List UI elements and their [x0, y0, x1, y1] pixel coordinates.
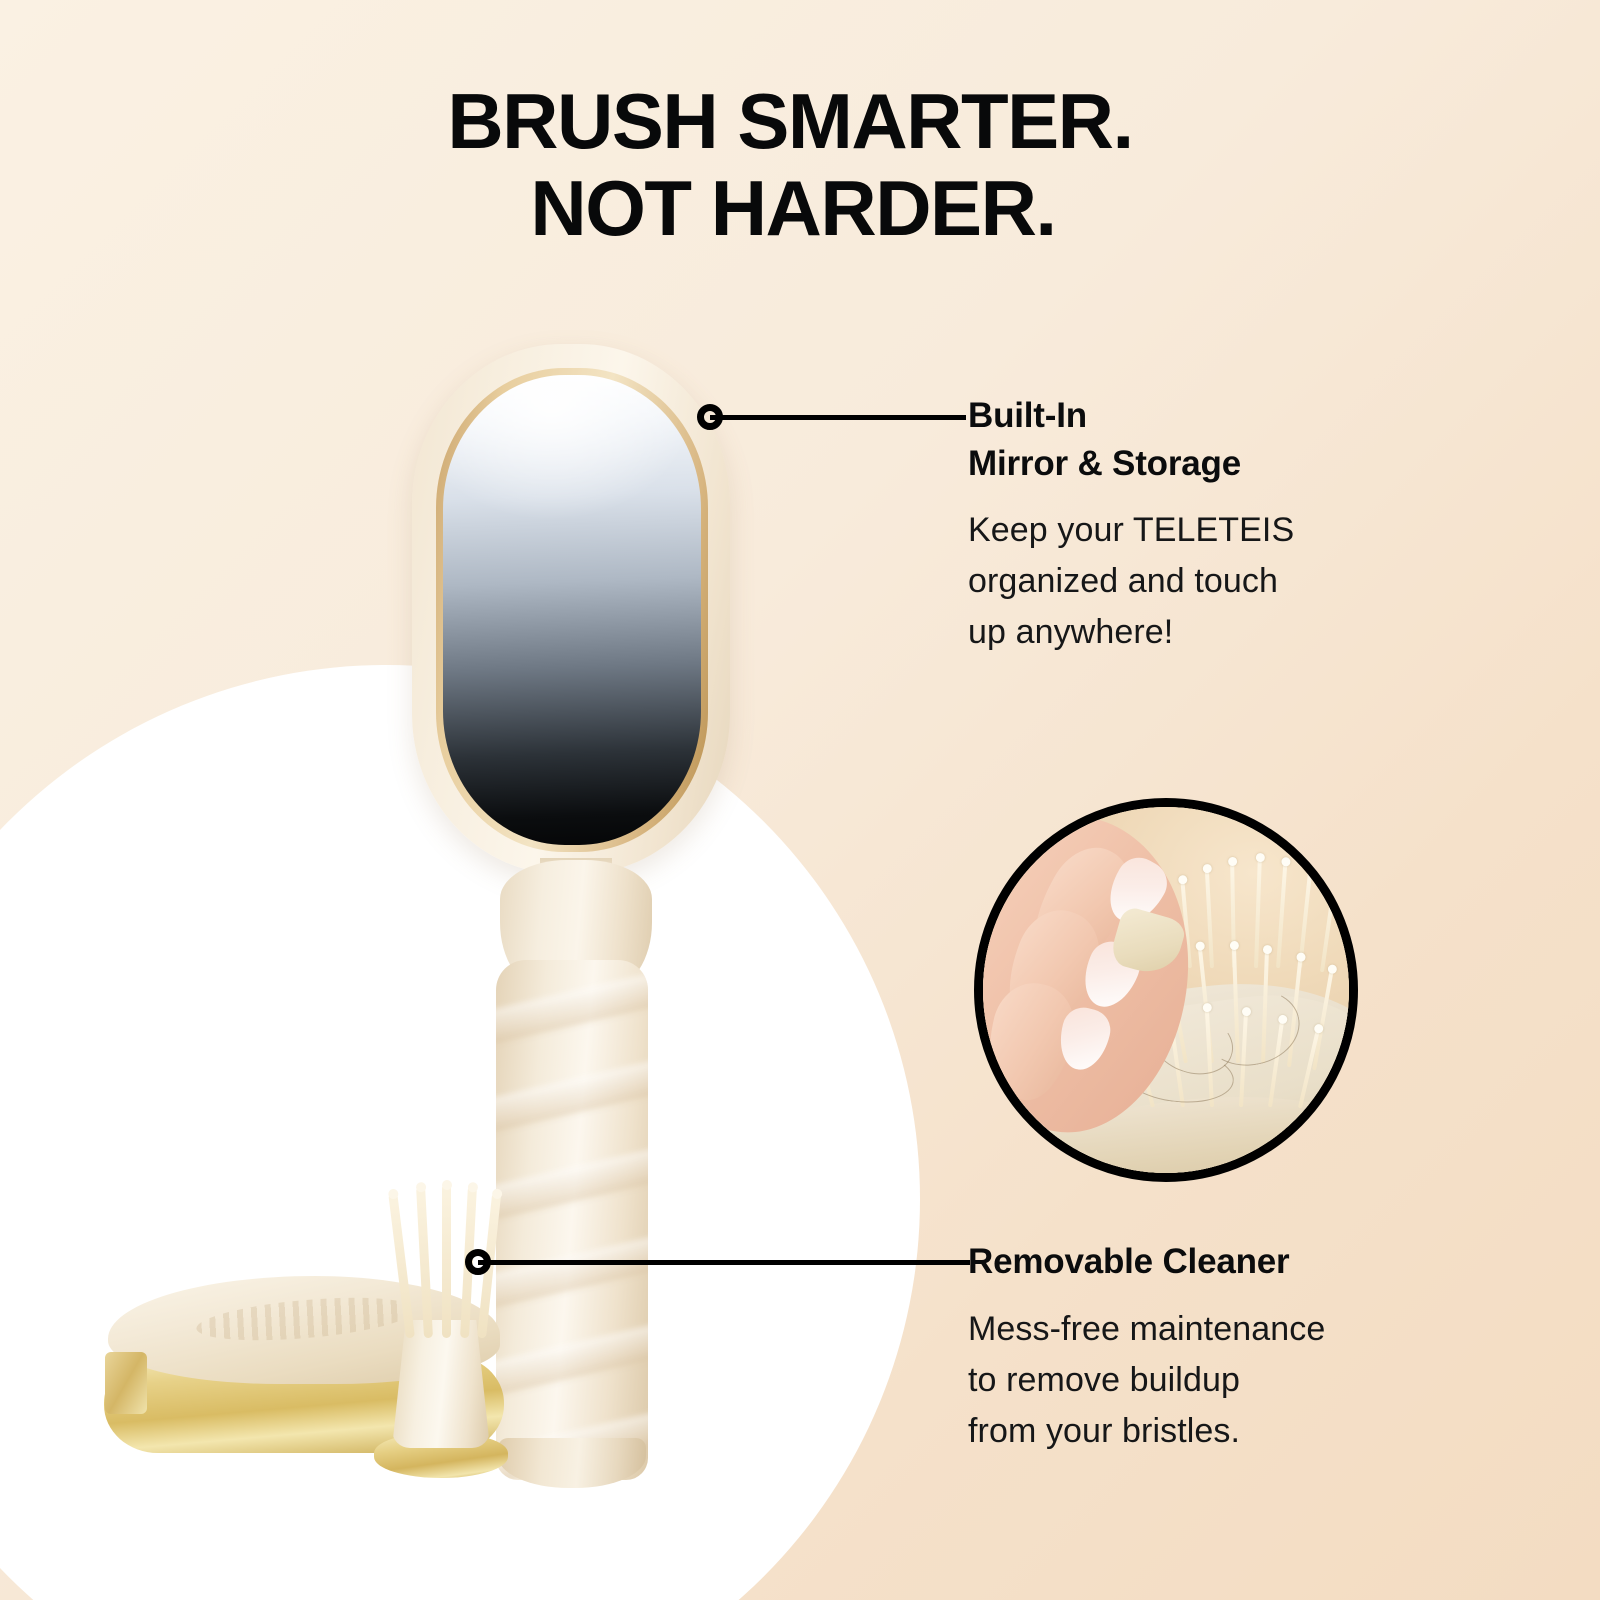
callout-title-line-2: Mirror & Storage — [968, 440, 1438, 488]
mirror-panel — [443, 375, 701, 845]
callout-body: Keep your TELETEIS organized and touch u… — [968, 505, 1438, 658]
handle-foot — [498, 1438, 646, 1488]
leader-line-stroke — [710, 415, 966, 420]
cleaner-in-use-photo — [974, 798, 1358, 1182]
cleaner-tool-body — [392, 1320, 490, 1448]
leader-anchor-dot — [697, 404, 723, 430]
storage-lid-hinge — [105, 1352, 147, 1414]
callout-title-line-1: Removable Cleaner — [968, 1242, 1289, 1281]
callout-body: Mess-free maintenance to remove buildup … — [968, 1304, 1468, 1457]
callout-removable-cleaner: Removable Cleaner Mess-free maintenance … — [968, 1238, 1468, 1457]
callout-title: Removable Cleaner — [968, 1238, 1468, 1286]
leader-line-stroke — [478, 1260, 970, 1265]
leader-anchor-dot — [465, 1249, 491, 1275]
callout-body-line-3: from your bristles. — [968, 1406, 1468, 1457]
callout-built-in-mirror-storage: Built-In Mirror & Storage Keep your TELE… — [968, 392, 1438, 658]
callout-body-line-2: to remove buildup — [968, 1355, 1468, 1406]
cleaner-bristle — [442, 1184, 451, 1338]
twisted-handle — [496, 960, 648, 1480]
callout-title-line-1: Built-In — [968, 396, 1087, 435]
callout-body-line-2: organized and touch — [968, 556, 1438, 607]
callout-body-line-1: Mess-free maintenance — [968, 1304, 1468, 1355]
infographic-canvas: BRUSH SMARTER. NOT HARDER. — [0, 0, 1600, 1600]
callout-title: Built-In Mirror & Storage — [968, 392, 1438, 487]
callout-body-line-1: Keep your TELETEIS — [968, 505, 1438, 556]
callout-body-line-3: up anywhere! — [968, 607, 1438, 658]
